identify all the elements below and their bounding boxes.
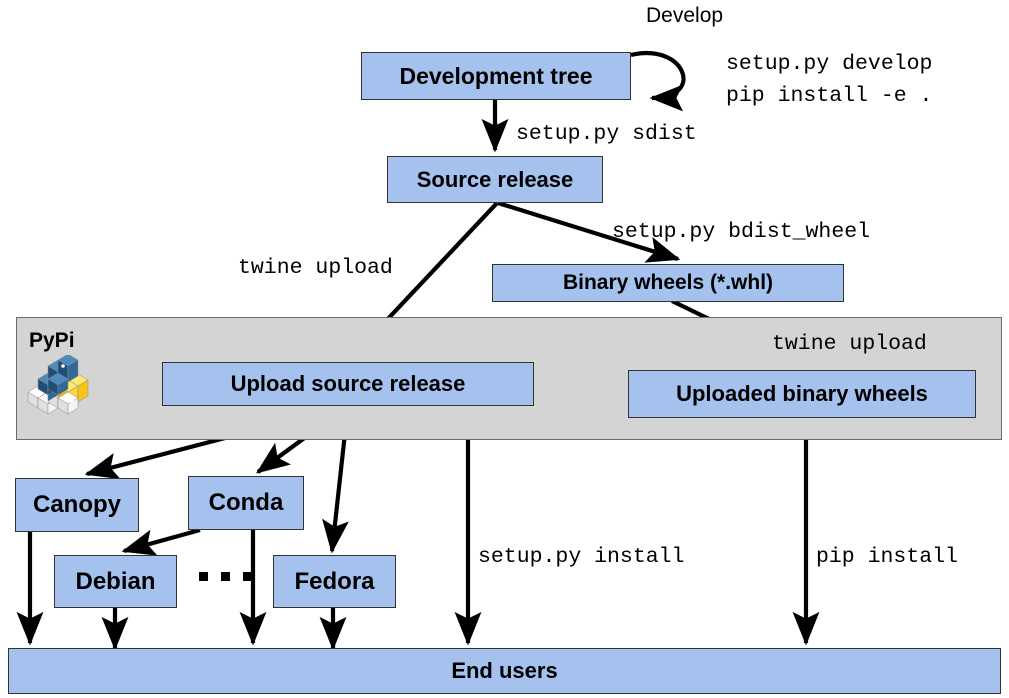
node-source-release[interactable]: Source release xyxy=(387,156,603,203)
node-upload-source-release[interactable]: Upload source release xyxy=(162,362,534,406)
node-conda[interactable]: Conda xyxy=(188,476,304,530)
edge-label-pip-install-editable: pip install -e . xyxy=(726,84,932,108)
node-binary-wheels[interactable]: Binary wheels (*.whl) xyxy=(492,264,844,302)
node-development-tree[interactable]: Development tree xyxy=(361,52,631,100)
pypi-panel-label: PyPi xyxy=(29,329,75,353)
edge-label-setup-py-install: setup.py install xyxy=(478,545,684,569)
node-uploaded-binary-wheels[interactable]: Uploaded binary wheels xyxy=(628,370,976,418)
node-canopy[interactable]: Canopy xyxy=(15,478,139,532)
edge-conda-to-debian xyxy=(124,530,200,551)
diagram-canvas: PyPi xyxy=(0,0,1009,698)
edge-label-setup-py-develop: setup.py develop xyxy=(726,52,932,76)
node-debian[interactable]: Debian xyxy=(54,555,177,608)
python-logo-3d-icon xyxy=(24,355,94,415)
ellipsis-more-distros xyxy=(199,572,252,581)
edge-label-twine-upload-wheels: twine upload xyxy=(772,332,927,356)
edge-label-setup-py-bdist-wheel: setup.py bdist_wheel xyxy=(612,220,870,244)
ellipsis-dot xyxy=(199,572,208,581)
edge-develop-self-loop xyxy=(631,53,683,98)
edge-label-setup-py-sdist: setup.py sdist xyxy=(516,122,697,146)
edge-label-twine-upload-source: twine upload xyxy=(238,256,393,280)
edge-label-pip-install: pip install xyxy=(816,545,958,569)
node-end-users[interactable]: End users xyxy=(8,648,1001,694)
edge-label-develop: Develop xyxy=(646,4,723,28)
ellipsis-dot xyxy=(243,572,252,581)
ellipsis-dot xyxy=(221,572,230,581)
node-fedora[interactable]: Fedora xyxy=(273,555,396,608)
